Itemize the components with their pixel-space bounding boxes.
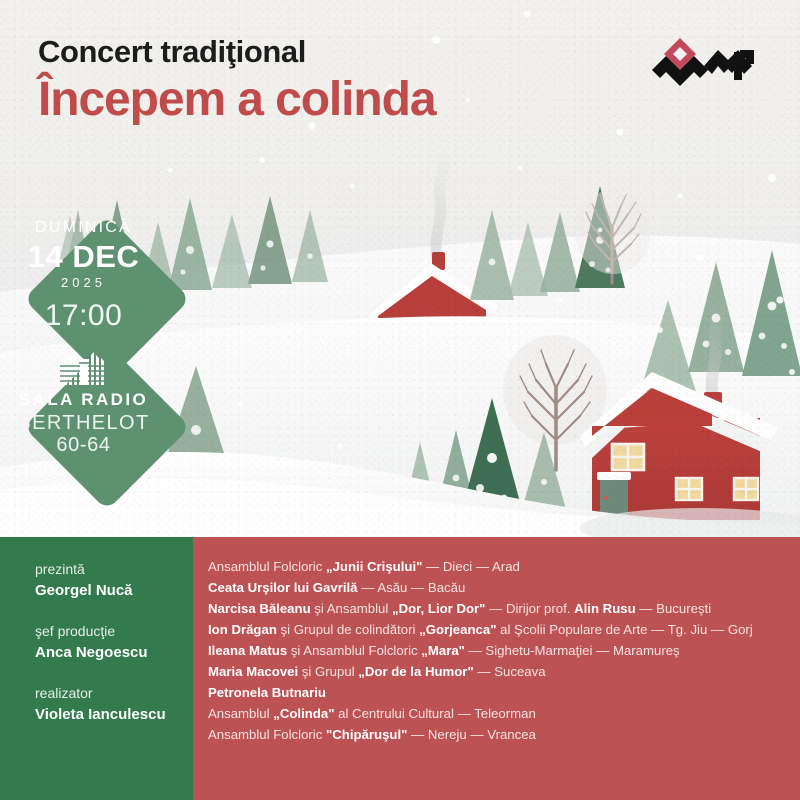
venue-street: BERTHELOT xyxy=(17,412,149,434)
credit-name: Anca Negoescu xyxy=(35,642,193,664)
credit-role: prezintă xyxy=(35,559,193,580)
credit-item: şef producţie Anca Negoescu xyxy=(35,621,193,664)
venue-street-number: 60-64 xyxy=(56,434,110,456)
radio-romania-muzical-logo xyxy=(650,32,758,88)
event-weekday: DUMINICĂ xyxy=(35,220,132,236)
venue-name: SALA RADIO xyxy=(19,391,148,408)
credit-role: şef producţie xyxy=(35,621,193,642)
list-item: Ansamblul Folcloric „Junii Crişului" — D… xyxy=(208,556,800,577)
event-day-month: 14 DEC xyxy=(28,239,140,275)
list-item: Petronela Butnariu xyxy=(208,682,800,703)
list-item: Ansamblul Folcloric "Chipăruşul" — Nerej… xyxy=(208,724,800,745)
headline-block: Concert tradiţional Începem a colinda xyxy=(38,36,435,126)
concert-kicker: Concert tradiţional xyxy=(38,36,435,69)
list-item: Ansamblul „Colinda" al Centrului Cultura… xyxy=(208,703,800,724)
venue-badge-content: SALA RADIO BERTHELOT 60-64 xyxy=(0,320,167,487)
venue-badge: SALA RADIO BERTHELOT 60-64 xyxy=(24,344,191,511)
concert-poster: Concert tradiţional Începem a colinda DU… xyxy=(0,0,800,800)
event-year: 2025 xyxy=(61,276,106,289)
credit-item: realizator Violeta Ianculescu xyxy=(35,683,193,726)
credit-role: realizator xyxy=(35,683,193,704)
credits-panel: prezintă Georgel Nucă şef producţie Anca… xyxy=(0,537,193,800)
credit-name: Georgel Nucă xyxy=(35,580,193,602)
list-item: Ileana Matus şi Ansamblul Folcloric „Mar… xyxy=(208,640,800,661)
credit-name: Violeta Ianculescu xyxy=(35,704,193,726)
sala-radio-logo-icon xyxy=(60,351,108,385)
credit-item: prezintă Georgel Nucă xyxy=(35,559,193,602)
list-item: Ceata Urşilor lui Gavrilă — Asău — Bacău xyxy=(208,577,800,598)
page-title: Începem a colinda xyxy=(38,75,435,126)
lineup-panel: Ansamblul Folcloric „Junii Crişului" — D… xyxy=(193,537,800,800)
info-panels: prezintă Georgel Nucă şef producţie Anca… xyxy=(0,537,800,800)
list-item: Maria Macovei şi Grupul „Dor de la Humor… xyxy=(208,661,800,682)
list-item: Ion Drăgan şi Grupul de colindători „Gor… xyxy=(208,619,800,640)
list-item: Narcisa Băleanu şi Ansamblul „Dor, Lior … xyxy=(208,598,800,619)
